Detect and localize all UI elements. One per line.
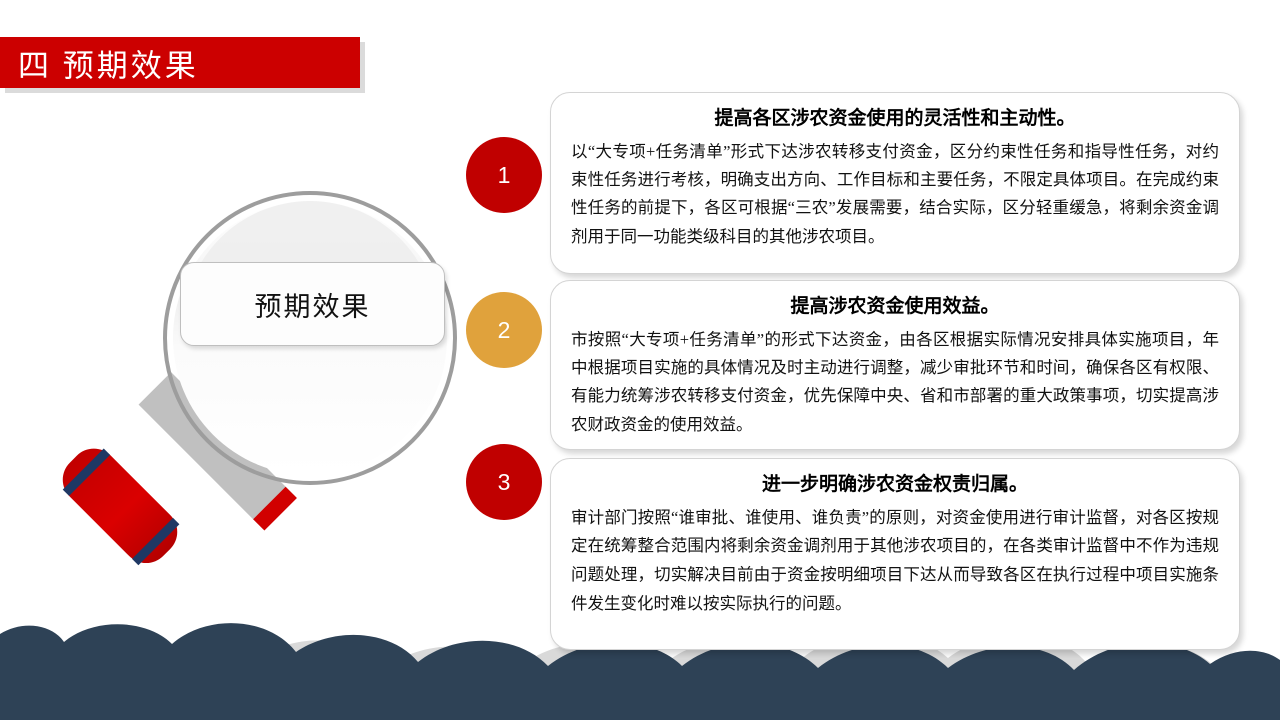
content-card-2[interactable]: 提高涉农资金使用效益。 市按照“大专项+任务清单”的形式下达资金，由各区根据实际…	[550, 280, 1240, 450]
card-body-2: 市按照“大专项+任务清单”的形式下达资金，由各区根据实际情况安排具体实施项目，年…	[571, 326, 1219, 440]
content-card-3[interactable]: 进一步明确涉农资金权责归属。 审计部门按照“谁审批、谁使用、谁负责”的原则，对资…	[550, 458, 1240, 650]
step-number-3: 3	[498, 469, 511, 496]
magnifier-handle	[53, 439, 187, 573]
card-body-1: 以“大专项+任务清单”形式下达涉农转移支付资金，区分约束性任务和指导性任务，对约…	[571, 138, 1219, 252]
section-title-banner: 四 预期效果	[0, 37, 360, 88]
card-title-2: 提高涉农资金使用效益。	[571, 293, 1219, 322]
step-number-circle-3[interactable]: 3	[466, 444, 542, 520]
magnifier-icon	[18, 98, 488, 608]
card-title-3: 进一步明确涉农资金权责归属。	[571, 471, 1219, 500]
card-title-1: 提高各区涉农资金使用的灵活性和主动性。	[571, 105, 1219, 134]
magnifier-label-text: 预期效果	[255, 285, 371, 324]
step-number-circle-2[interactable]: 2	[466, 292, 542, 368]
content-card-1[interactable]: 提高各区涉农资金使用的灵活性和主动性。 以“大专项+任务清单”形式下达涉农转移支…	[550, 92, 1240, 274]
magnifier-label-box: 预期效果	[180, 262, 445, 346]
step-number-circle-1[interactable]: 1	[466, 137, 542, 213]
step-number-1: 1	[498, 162, 511, 189]
page-title: 四 预期效果	[18, 40, 199, 85]
card-body-3: 审计部门按照“谁审批、谁使用、谁负责”的原则，对资金使用进行审计监督，对各区按规…	[571, 504, 1219, 619]
step-number-2: 2	[498, 317, 511, 344]
